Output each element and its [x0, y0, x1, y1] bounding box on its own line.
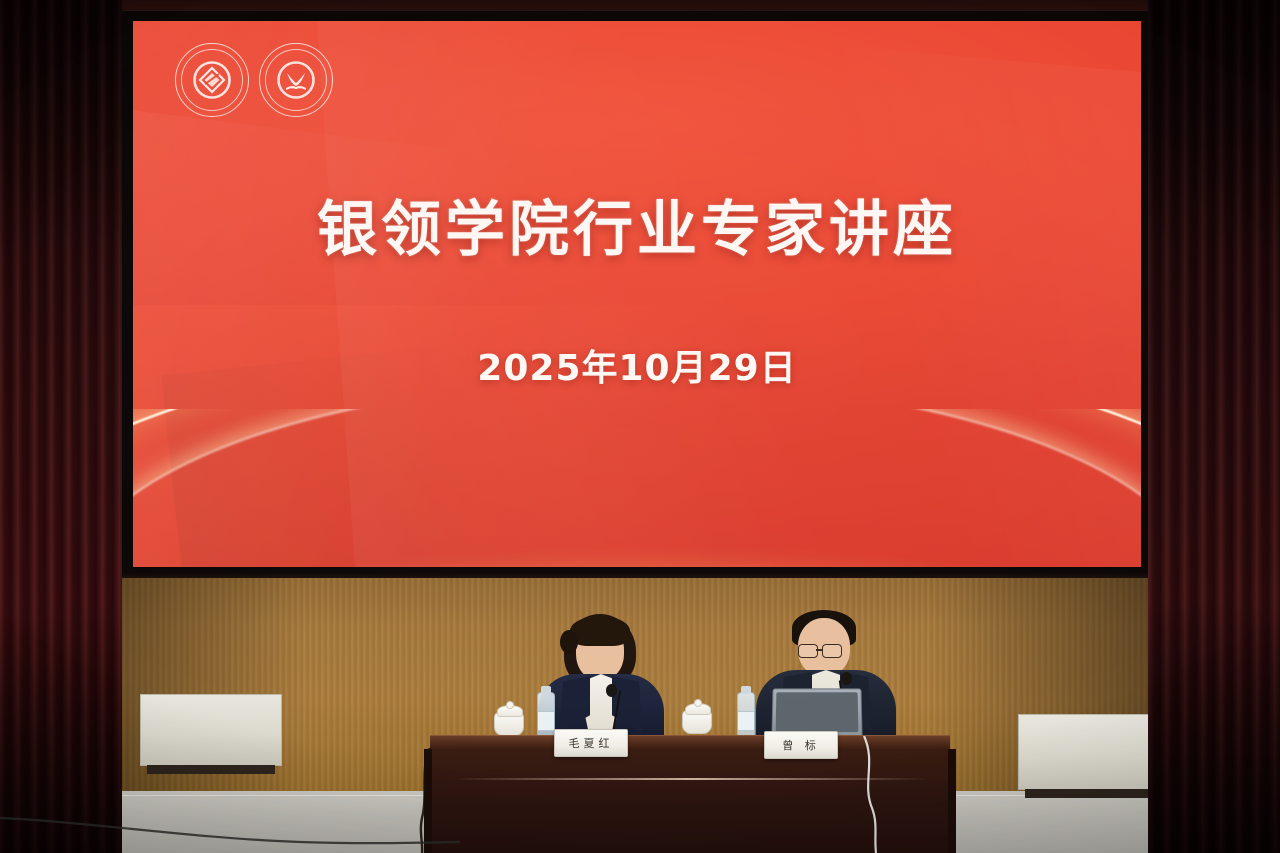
- table-side-right: [948, 749, 956, 853]
- bottle-label: [738, 711, 754, 731]
- auditorium-photo: 银领学院行业专家讲座 2025年10月29日: [0, 0, 1280, 853]
- nameplate-left: 毛夏红: [554, 729, 628, 757]
- hvac-unit-left: [140, 694, 282, 766]
- teacup-left: [494, 712, 524, 736]
- laptop-screen: [776, 692, 859, 732]
- stage-curtain-right: [1148, 0, 1280, 853]
- eyeglasses-bridge: [816, 649, 823, 651]
- eyeglasses-right-lens: [822, 644, 842, 658]
- led-screen: 银领学院行业专家讲座 2025年10月29日: [133, 21, 1141, 567]
- screen-date: 2025年10月29日: [133, 339, 1141, 391]
- teacup-knob: [694, 699, 702, 707]
- glow-arc-inner: [133, 409, 1141, 567]
- teacup-knob: [506, 701, 514, 709]
- bottle-cap: [741, 686, 751, 694]
- screen-title: 银领学院行业专家讲座: [133, 181, 1141, 268]
- eyeglasses-left-lens: [798, 644, 818, 658]
- led-screen-bezel: 银领学院行业专家讲座 2025年10月29日: [120, 10, 1154, 580]
- bottle-label: [538, 711, 554, 731]
- water-bottle-left: [537, 692, 555, 738]
- presidium-table-trim: [452, 778, 930, 780]
- institute-emblem-icon: [175, 43, 249, 117]
- hair-bun: [560, 630, 578, 654]
- screen-glow-arc: [133, 409, 1141, 567]
- nameplate-right: 曾 标: [764, 731, 838, 759]
- floor-cable: [0, 812, 460, 852]
- microphone-head-left: [606, 684, 617, 697]
- yinling-school-emblem-icon: [259, 43, 333, 117]
- microphone-head-right: [841, 672, 852, 685]
- bottle-cap: [541, 686, 551, 694]
- laptop: [771, 688, 862, 736]
- water-bottle-right: [737, 692, 755, 738]
- teacup-right: [682, 710, 712, 734]
- stage-curtain-left: [0, 0, 122, 853]
- white-cable: [860, 736, 900, 853]
- hvac-plinth: [147, 765, 275, 774]
- hair-top: [570, 616, 630, 646]
- screen-logo-group: [175, 43, 333, 117]
